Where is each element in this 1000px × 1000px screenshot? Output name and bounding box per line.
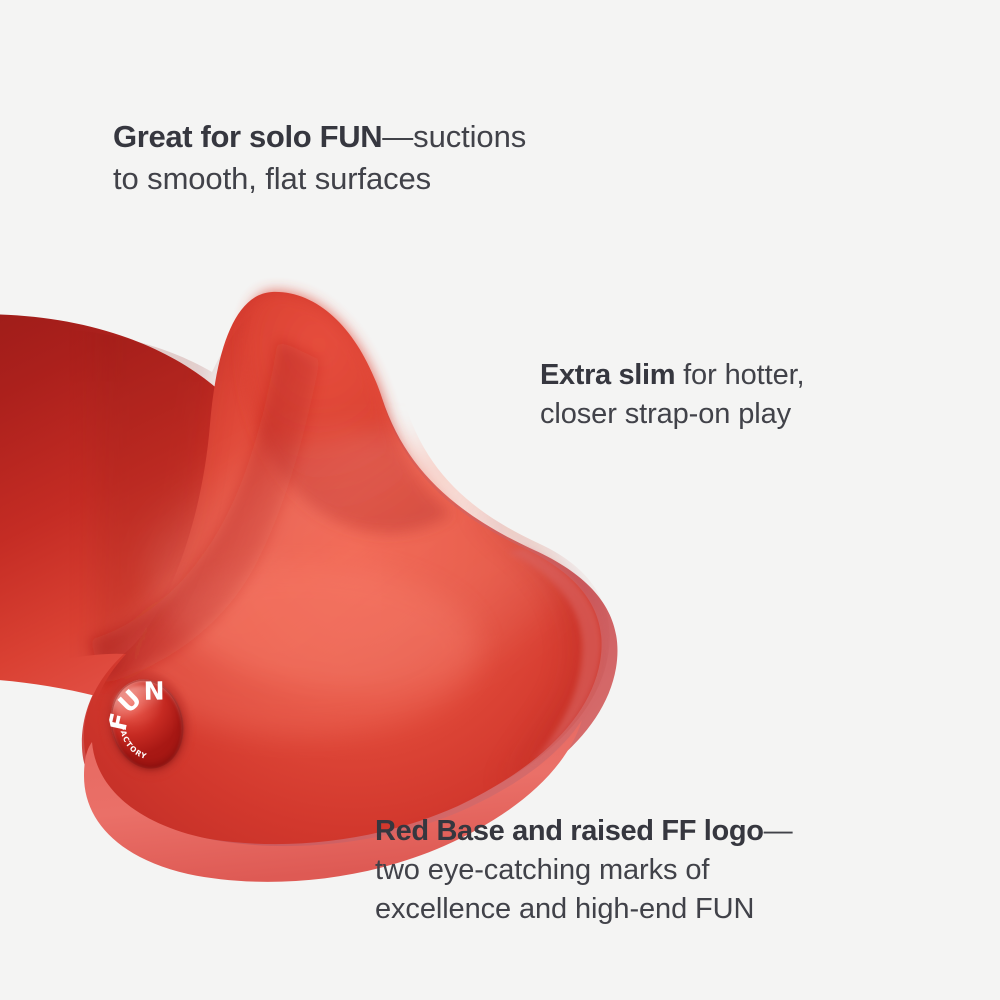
callout-red-base-line-1-regular: — [764, 815, 793, 847]
base-upper-shadow [96, 300, 230, 700]
callout-extra-slim-line-2-regular: closer strap-on play [540, 398, 791, 430]
base-right-shadow [470, 500, 599, 790]
callout-solo-fun-line-1-bold: Great for solo FUN [113, 119, 382, 154]
callout-red-base-line-1-bold: Red Base and raised FF logo [375, 815, 764, 847]
product-feature-image: FUN FACTORY Great for solo FUN—suctions … [0, 0, 1000, 1000]
base-rim-shape [82, 297, 618, 854]
logo-secondary-text: FACTORY [117, 721, 150, 766]
logo-badge-text: FUN FACTORY [102, 672, 192, 776]
callout-extra-slim: Extra slim for hotter, closer strap-on p… [540, 356, 805, 434]
callout-red-base-line-3-regular: excellence and high-end FUN [375, 893, 754, 925]
logo-primary-text: FUN [102, 672, 175, 739]
callout-red-base-line-2: two eye-catching marks of [375, 851, 792, 890]
callout-red-base-line-1: Red Base and raised FF logo— [375, 812, 792, 851]
callout-extra-slim-line-1-bold: Extra slim [540, 359, 675, 391]
callout-solo-fun: Great for solo FUN—suctions to smooth, f… [113, 116, 526, 199]
base-right-rim-accent [508, 548, 602, 764]
base-specular-highlight [145, 430, 575, 690]
callout-red-base: Red Base and raised FF logo— two eye-cat… [375, 812, 792, 929]
callout-solo-fun-line-2-regular: to smooth, flat surfaces [113, 161, 431, 196]
callout-solo-fun-line-2: to smooth, flat surfaces [113, 158, 526, 200]
callout-red-base-line-2-regular: two eye-catching marks of [375, 854, 709, 886]
callout-extra-slim-line-2: closer strap-on play [540, 395, 805, 434]
product-rim-layer [82, 297, 618, 854]
shaft-base-crease [90, 340, 320, 684]
product-shaft-layer [0, 314, 313, 708]
callout-solo-fun-line-1: Great for solo FUN—suctions [113, 116, 526, 158]
shaft-shape [0, 314, 313, 708]
callout-extra-slim-line-1-regular: for hotter, [675, 359, 804, 391]
callout-solo-fun-line-1-regular: —suctions [382, 119, 526, 154]
base-hump-shading [244, 292, 452, 533]
product-base-layer [84, 292, 602, 882]
callout-red-base-line-3: excellence and high-end FUN [375, 890, 792, 929]
callout-extra-slim-line-1: Extra slim for hotter, [540, 356, 805, 395]
fun-factory-logo: FUN FACTORY [102, 672, 192, 776]
